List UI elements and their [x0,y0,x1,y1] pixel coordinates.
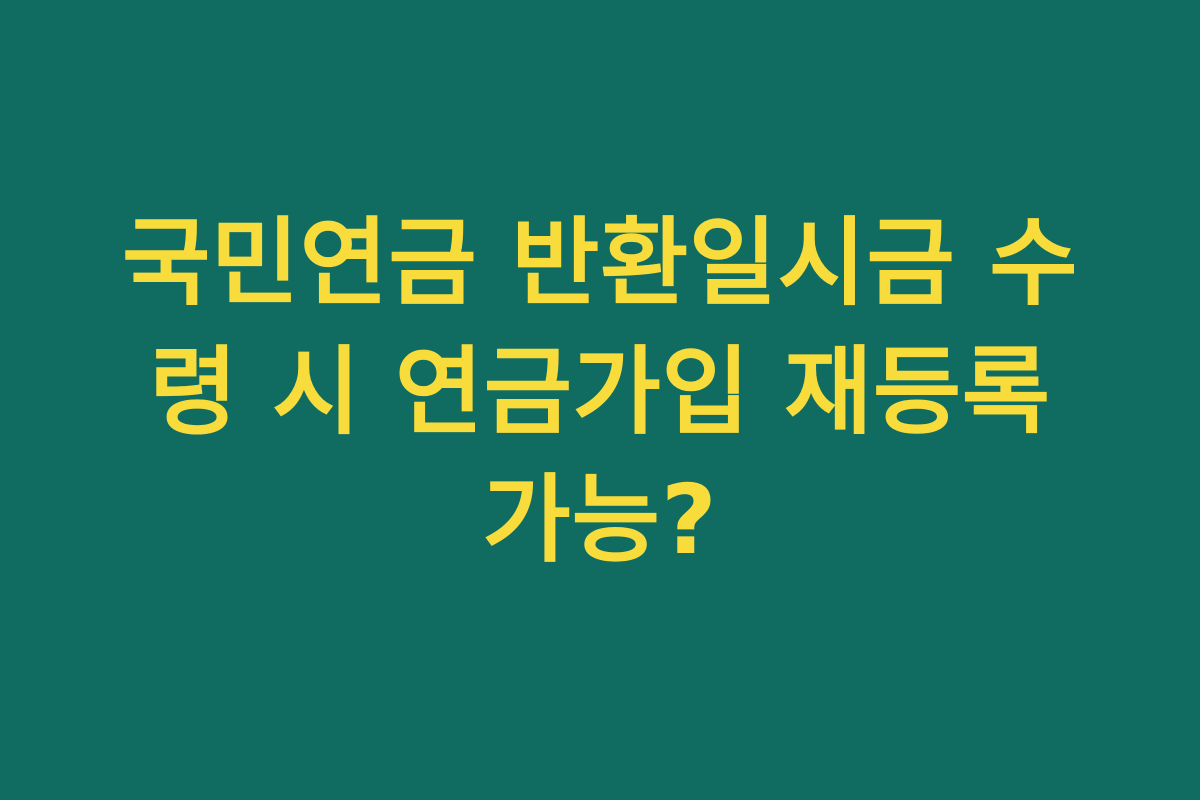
headline-line-3: 가능? [70,456,1130,585]
thumbnail-card: 국민연금 반환일시금 수 령 시 연금가입 재등록 가능? [0,0,1200,800]
headline-block: 국민연금 반환일시금 수 령 시 연금가입 재등록 가능? [70,199,1130,585]
headline-line-1: 국민연금 반환일시금 수 [70,199,1130,328]
headline-line-2: 령 시 연금가입 재등록 [70,328,1130,457]
